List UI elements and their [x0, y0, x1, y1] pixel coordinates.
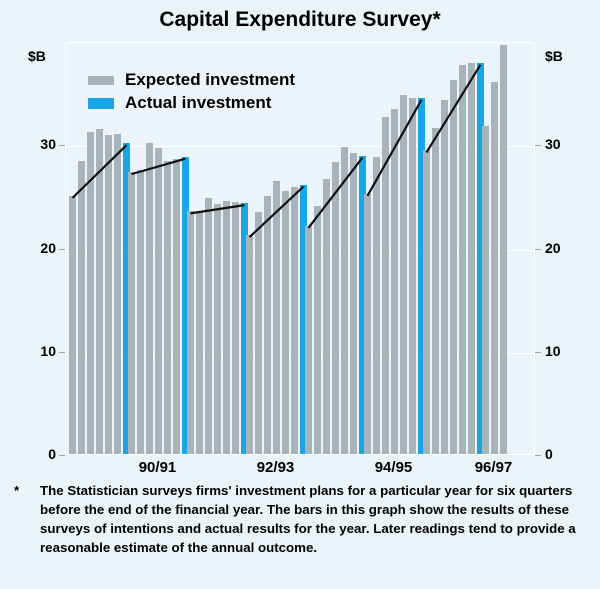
bar-expected — [69, 196, 76, 454]
x-axis-label: 94/95 — [354, 459, 434, 476]
bar-expected — [341, 147, 348, 454]
bar-expected — [382, 117, 389, 454]
bar-expected — [423, 150, 430, 454]
bar-expected — [264, 196, 271, 454]
chart-legend: Expected investment Actual investment — [88, 70, 295, 116]
y-tick-label-left: 20 — [20, 240, 56, 256]
y-tickmark-right — [535, 249, 541, 250]
bar-expected — [78, 161, 85, 454]
bar-expected — [255, 212, 262, 454]
bar-expected — [282, 191, 289, 454]
bar-expected — [409, 98, 416, 454]
bar-expected — [323, 179, 330, 454]
y-tickmark-left — [59, 249, 65, 250]
bar-expected — [223, 201, 230, 454]
footnote-marker: * — [14, 482, 19, 501]
bar-expected — [164, 161, 171, 454]
bar-expected — [187, 211, 194, 454]
y-tick-label-right: 0 — [545, 446, 585, 462]
bar-expected — [87, 132, 94, 454]
bar-expected — [491, 82, 498, 454]
y-tick-label-right: 30 — [545, 136, 585, 152]
y-tickmark-right — [535, 145, 541, 146]
bar-expected — [373, 157, 380, 454]
bar-expected — [391, 109, 398, 454]
x-axis-label: 96/97 — [454, 459, 534, 476]
page-title: Capital Expenditure Survey* — [0, 8, 600, 32]
y-axis-unit-left: $B — [28, 48, 46, 64]
bar-expected — [450, 80, 457, 454]
legend-swatch-actual-icon — [88, 98, 114, 109]
y-tick-label-left: 0 — [20, 446, 56, 462]
bar-expected — [332, 162, 339, 454]
y-tickmark-left — [59, 145, 65, 146]
bar-expected — [105, 135, 112, 454]
y-axis-unit-right: $B — [545, 48, 563, 64]
footnote: * The Statistician surveys firms' invest… — [14, 482, 592, 558]
bar-expected — [114, 134, 121, 454]
bar-expected — [468, 63, 475, 454]
bar-expected — [173, 159, 180, 454]
bar-expected — [432, 128, 439, 454]
bar-expected — [459, 65, 466, 454]
bar-expected — [314, 206, 321, 454]
y-tick-label-left: 30 — [20, 136, 56, 152]
bar-expected — [291, 187, 298, 454]
bar-expected — [305, 226, 312, 454]
bar-expected — [273, 181, 280, 454]
bar-expected — [400, 95, 407, 454]
bar-expected — [128, 172, 135, 454]
legend-item-expected: Expected investment — [88, 70, 295, 90]
bar-expected — [196, 212, 203, 454]
bar-expected — [232, 202, 239, 454]
bar-expected — [350, 153, 357, 454]
bar-expected — [482, 126, 489, 454]
bar-expected — [205, 198, 212, 454]
legend-swatch-expected-icon — [88, 76, 114, 85]
y-tick-label-right: 10 — [545, 343, 585, 359]
bar-expected — [500, 45, 507, 454]
y-tickmark-left — [59, 455, 65, 456]
legend-label-actual: Actual investment — [125, 93, 271, 113]
bar-expected — [214, 204, 221, 454]
bar-expected — [137, 170, 144, 454]
footnote-text: The Statistician surveys firms' investme… — [40, 482, 592, 558]
bar-expected — [155, 148, 162, 454]
bar-expected — [146, 143, 153, 454]
legend-item-actual: Actual investment — [88, 93, 295, 113]
legend-label-expected: Expected investment — [125, 70, 295, 90]
y-tick-label-right: 20 — [545, 240, 585, 256]
bar-expected — [364, 194, 371, 454]
bar-expected — [96, 129, 103, 454]
y-tickmark-right — [535, 352, 541, 353]
x-axis-label: 90/91 — [118, 459, 198, 476]
y-tickmark-right — [535, 455, 541, 456]
x-axis-label: 92/93 — [236, 459, 316, 476]
y-tick-label-left: 10 — [20, 343, 56, 359]
y-tickmark-left — [59, 352, 65, 353]
bar-expected — [441, 100, 448, 454]
bar-expected — [246, 235, 253, 454]
